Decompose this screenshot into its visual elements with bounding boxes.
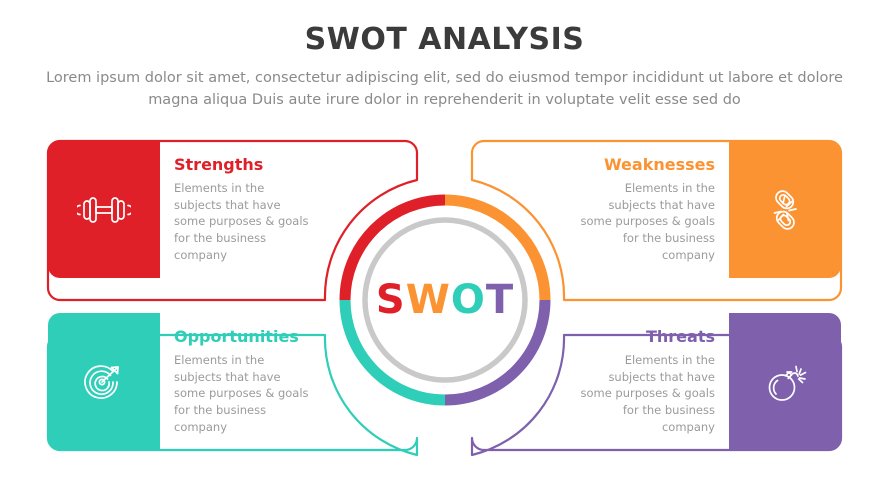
swot-letter-w: W xyxy=(406,277,451,323)
opportunities-icon-panel xyxy=(48,313,160,450)
broken-chain-icon xyxy=(761,186,809,234)
opportunities-heading: Opportunities xyxy=(174,328,314,346)
center-wheel: SWOT xyxy=(333,188,557,412)
threats-card-body: Threats Elements in the subjects that ha… xyxy=(569,313,729,450)
opportunities-description: Elements in the subjects that have some … xyxy=(174,352,314,435)
dumbbell-icon xyxy=(77,190,131,230)
weaknesses-heading: Weaknesses xyxy=(575,156,715,174)
weaknesses-icon-panel xyxy=(729,141,841,278)
opportunities-card-body: Opportunities Elements in the subjects t… xyxy=(160,313,320,450)
center-swot-label: SWOT xyxy=(333,188,557,412)
swot-card-strengths[interactable]: Strengths Elements in the subjects that … xyxy=(48,141,320,278)
threats-icon-panel xyxy=(729,313,841,450)
swot-letter-t: T xyxy=(486,277,514,323)
strengths-icon-panel xyxy=(48,141,160,278)
weaknesses-description: Elements in the subjects that have some … xyxy=(575,180,715,263)
target-arrow-icon xyxy=(80,358,128,406)
weaknesses-card-body: Weaknesses Elements in the subjects that… xyxy=(569,141,729,278)
swot-diagram: Strengths Elements in the subjects that … xyxy=(0,0,889,500)
swot-letter-s: S xyxy=(376,277,406,323)
swot-letter-o: O xyxy=(451,277,486,323)
swot-card-weaknesses[interactable]: Weaknesses Elements in the subjects that… xyxy=(569,141,841,278)
strengths-description: Elements in the subjects that have some … xyxy=(174,180,314,263)
threats-heading: Threats xyxy=(575,328,715,346)
swot-card-threats[interactable]: Threats Elements in the subjects that ha… xyxy=(569,313,841,450)
bomb-icon xyxy=(761,358,809,406)
swot-card-opportunities[interactable]: Opportunities Elements in the subjects t… xyxy=(48,313,320,450)
strengths-heading: Strengths xyxy=(174,156,314,174)
strengths-card-body: Strengths Elements in the subjects that … xyxy=(160,141,320,278)
threats-description: Elements in the subjects that have some … xyxy=(575,352,715,435)
